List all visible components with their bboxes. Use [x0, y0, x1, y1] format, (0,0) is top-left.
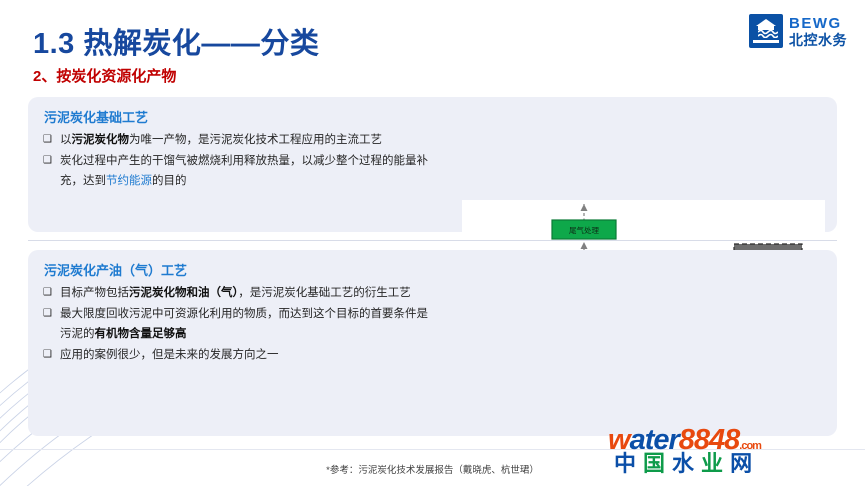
- node-tail-gas: 尾气处理: [552, 220, 616, 239]
- section-text-column: 污泥炭化基础工艺 ❑以污泥炭化物为唯一产物，是污泥炭化技术工程应用的主流工艺❑炭…: [42, 105, 432, 192]
- svg-text:尾气处理: 尾气处理: [569, 225, 599, 235]
- bullet-item: ❑以污泥炭化物为唯一产物，是污泥炭化技术工程应用的主流工艺: [42, 130, 432, 150]
- section-text-column-2: 污泥炭化产油（气）工艺 ❑目标产物包括污泥炭化物和油（气），是污泥炭化基础工艺的…: [42, 258, 432, 367]
- footer-rule: [0, 449, 865, 450]
- bullet-text-run: 的目的: [152, 175, 187, 187]
- bullet-text-run: 有机物含量足够高: [95, 328, 187, 340]
- bullet-text-run: 节约能源: [106, 175, 152, 187]
- bullet-text-run: ，是污泥炭化基础工艺的衍生工艺: [238, 287, 411, 299]
- bullet-text-run: 以: [60, 134, 72, 146]
- section-divider: [28, 240, 837, 241]
- footnote-reference: *参考：污泥炭化技术发展报告（戴晓虎、杭世珺）: [0, 462, 865, 476]
- section-card-basic-process: 污泥炭化基础工艺 ❑以污泥炭化物为唯一产物，是污泥炭化技术工程应用的主流工艺❑炭…: [28, 97, 837, 232]
- bullet-square-icon: ❑: [43, 152, 52, 170]
- bewg-logo: BEWG 北控水务: [749, 14, 847, 48]
- bullet-text-run: 应用的案例很少，但是未来的发展方向之一: [60, 349, 279, 361]
- logo-cn-text: 北控水务: [789, 33, 847, 47]
- section-card-oil-gas-process: 污泥炭化产油（气）工艺 ❑目标产物包括污泥炭化物和油（气），是污泥炭化基础工艺的…: [28, 250, 837, 436]
- bullet-text-run: 污泥炭化物: [72, 134, 130, 146]
- bullet-square-icon: ❑: [43, 131, 52, 149]
- page-title: 1.3 热解炭化——分类: [33, 20, 319, 62]
- temple-wave-icon: [749, 14, 783, 48]
- bullet-square-icon: ❑: [43, 284, 52, 302]
- bullet-list-2: ❑目标产物包括污泥炭化物和油（气），是污泥炭化基础工艺的衍生工艺❑最大限度回收污…: [42, 283, 432, 366]
- bullet-text-run: 目标产物包括: [60, 287, 129, 299]
- bullet-item: ❑应用的案例很少，但是未来的发展方向之一: [42, 345, 432, 365]
- bullet-item: ❑目标产物包括污泥炭化物和油（气），是污泥炭化基础工艺的衍生工艺: [42, 283, 432, 303]
- bullet-text-run: 污泥炭化物和油（气）: [129, 287, 238, 299]
- bullet-item: ❑最大限度回收污泥中可资源化利用的物质，而达到这个目标的首要条件是污泥的有机物含…: [42, 304, 432, 344]
- section-heading-2: 污泥炭化产油（气）工艺: [44, 260, 432, 279]
- slide-canvas: 1.3 热解炭化——分类 2、按炭化资源化产物 BEWG 北控水务 污泥炭化基础…: [0, 0, 865, 486]
- bullet-text-run: 为唯一产物，是污泥炭化技术工程应用的主流工艺: [129, 134, 382, 146]
- bullet-square-icon: ❑: [43, 305, 52, 323]
- watermark-com: .com: [739, 440, 761, 452]
- section-heading: 污泥炭化基础工艺: [44, 107, 432, 126]
- bullet-item: ❑炭化过程中产生的干馏气被燃烧利用释放热量，以减少整个过程的能量补充，达到节约能…: [42, 151, 432, 191]
- page-subtitle: 2、按炭化资源化产物: [33, 65, 176, 86]
- bullet-square-icon: ❑: [43, 346, 52, 364]
- bullet-list: ❑以污泥炭化物为唯一产物，是污泥炭化技术工程应用的主流工艺❑炭化过程中产生的干馏…: [42, 130, 432, 191]
- logo-en-text: BEWG: [789, 16, 847, 31]
